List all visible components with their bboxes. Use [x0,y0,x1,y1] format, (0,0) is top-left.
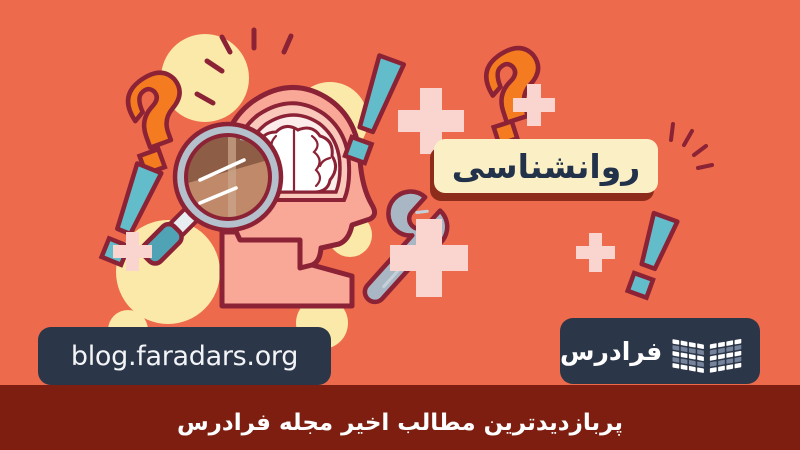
book-left-page [673,339,704,373]
caption-text: پربازدیدترین مطالب اخیر مجله فرادرس [0,402,800,444]
logo-wordmark: فرادرس [560,337,662,366]
blog-url-pill[interactable]: blog.faradars.org [38,327,331,385]
title-badge-label: روانشناسی [452,147,641,186]
open-book-icon [668,328,746,374]
book-right-page [710,339,741,373]
title-badge: روانشناسی [434,139,658,193]
faradars-logo[interactable]: فرادرس [560,318,760,384]
bottom-band: پربازدیدترین مطالب اخیر مجله فرادرس [0,385,800,450]
poster-canvas: روانشناسی پربازدیدترین مطالب اخیر مجله ف… [0,0,800,450]
blog-url-label: blog.faradars.org [71,341,298,372]
